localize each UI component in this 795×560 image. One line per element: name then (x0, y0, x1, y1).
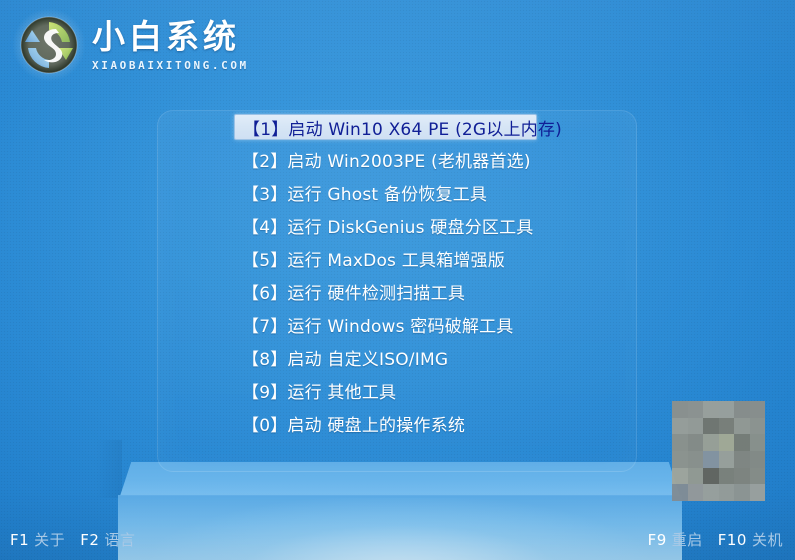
hotkey-f9-label[interactable]: 重启 (672, 529, 703, 550)
mosaic-cell (734, 484, 750, 501)
hotkey-f10-label[interactable]: 关机 (752, 529, 783, 550)
hotkey-f2-key[interactable]: F2 (80, 531, 99, 549)
mosaic-cell (688, 401, 704, 418)
menu-item-4[interactable]: 【4】运行 DiskGenius 硬盘分区工具 (234, 211, 564, 239)
menu-item-label: 【4】运行 DiskGenius 硬盘分区工具 (242, 213, 534, 238)
menu-item-label: 【0】启动 硬盘上的操作系统 (242, 411, 465, 436)
mosaic-cell (672, 451, 688, 468)
mosaic-cell (750, 451, 766, 468)
hotkey-f1-label[interactable]: 关于 (34, 529, 65, 550)
mosaic-cell (688, 418, 704, 435)
mosaic-cell (688, 484, 704, 501)
mosaic-cell (750, 434, 766, 451)
hotkey-bar-right: F9 重启 F10 关机 (648, 529, 783, 550)
brand-subtitle: XIAOBAIXITONG.COM (92, 60, 249, 71)
mosaic-cell (719, 401, 735, 418)
mosaic-cell (672, 484, 688, 501)
mosaic-cell (703, 468, 719, 485)
brand-title: 小白系统 (92, 20, 249, 53)
menu-item-1[interactable]: 【1】启动 Win10 X64 PE (2G以上内存) (234, 114, 537, 140)
menu-item-label: 【9】运行 其他工具 (242, 378, 396, 403)
mosaic-cell (719, 468, 735, 485)
menu-item-label: 【7】运行 Windows 密码破解工具 (242, 312, 514, 337)
pixelated-censored-watermark (672, 401, 765, 501)
mosaic-cell (672, 434, 688, 451)
menu-item-6[interactable]: 【6】运行 硬件检测扫描工具 (234, 277, 564, 305)
mosaic-cell (703, 434, 719, 451)
mosaic-cell (672, 418, 688, 435)
mosaic-cell (719, 484, 735, 501)
mosaic-cell (719, 434, 735, 451)
mosaic-cell (750, 401, 766, 418)
mosaic-cell (734, 434, 750, 451)
menu-item-8[interactable]: 【8】启动 自定义ISO/IMG (234, 343, 564, 371)
stage-glow (150, 498, 650, 560)
boot-menu-list[interactable]: 【1】启动 Win10 X64 PE (2G以上内存) 【2】启动 Win200… (234, 114, 564, 442)
hotkey-f1-key[interactable]: F1 (10, 531, 29, 549)
menu-item-label: 【5】运行 MaxDos 工具箱增强版 (242, 246, 505, 271)
stage-left-shadow (96, 440, 122, 498)
mosaic-cell (672, 468, 688, 485)
menu-item-label: 【1】启动 Win10 X64 PE (2G以上内存) (243, 115, 562, 140)
menu-item-label: 【3】运行 Ghost 备份恢复工具 (242, 180, 487, 205)
brand-logo: 小白系统 XIAOBAIXITONG.COM (12, 6, 282, 84)
hotkey-bar-left: F1 关于 F2 语言 (10, 529, 135, 550)
circular-recycle-arrows-icon (12, 8, 86, 82)
menu-item-3[interactable]: 【3】运行 Ghost 备份恢复工具 (234, 178, 564, 206)
mosaic-cell (688, 451, 704, 468)
mosaic-cell (719, 418, 735, 435)
boot-menu-screen: 小白系统 XIAOBAIXITONG.COM 【1】启动 Win10 X64 P… (0, 0, 795, 560)
mosaic-cell (703, 418, 719, 435)
mosaic-cell (672, 401, 688, 418)
mosaic-cell (688, 468, 704, 485)
mosaic-cell (734, 451, 750, 468)
menu-item-label: 【6】运行 硬件检测扫描工具 (242, 279, 465, 304)
mosaic-cell (703, 401, 719, 418)
menu-item-9[interactable]: 【9】运行 其他工具 (234, 376, 564, 404)
mosaic-cell (688, 434, 704, 451)
mosaic-cell (734, 418, 750, 435)
logo-halo (12, 8, 86, 82)
mosaic-cell (719, 451, 735, 468)
menu-item-5[interactable]: 【5】运行 MaxDos 工具箱增强版 (234, 244, 564, 272)
brand-text: 小白系统 XIAOBAIXITONG.COM (92, 20, 249, 71)
menu-item-label: 【8】启动 自定义ISO/IMG (242, 345, 448, 370)
mosaic-cell (734, 401, 750, 418)
mosaic-cell (703, 484, 719, 501)
menu-item-7[interactable]: 【7】运行 Windows 密码破解工具 (234, 310, 564, 338)
hotkey-f9-key[interactable]: F9 (648, 531, 667, 549)
menu-item-label: 【2】启动 Win2003PE (老机器首选) (242, 147, 531, 172)
mosaic-cell (734, 468, 750, 485)
hotkey-f10-key[interactable]: F10 (718, 531, 747, 549)
stage-front-face (118, 495, 682, 560)
mosaic-cell (750, 418, 766, 435)
hotkey-f2-label[interactable]: 语言 (104, 529, 135, 550)
mosaic-cell (750, 484, 766, 501)
menu-item-0[interactable]: 【0】启动 硬盘上的操作系统 (234, 409, 564, 437)
mosaic-cell (750, 468, 766, 485)
mosaic-cell (703, 451, 719, 468)
menu-item-2[interactable]: 【2】启动 Win2003PE (老机器首选) (234, 145, 564, 173)
